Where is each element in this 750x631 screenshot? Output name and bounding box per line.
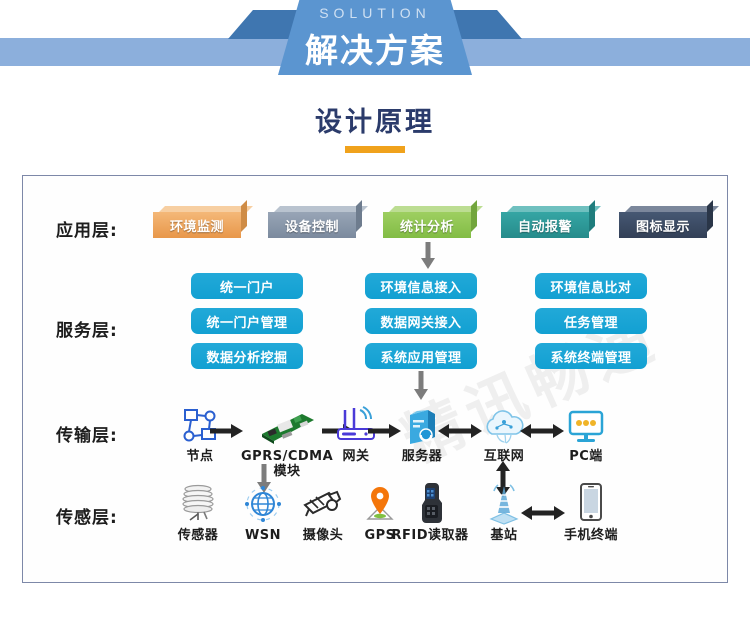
banner-kicker: SOLUTION	[228, 5, 522, 21]
node-caption: 网关	[319, 449, 393, 464]
node-caption: 节点	[163, 449, 237, 464]
title-underline	[345, 146, 405, 153]
node-caption: PC端	[549, 449, 623, 464]
box-side-face	[356, 200, 362, 232]
box-side-face	[589, 200, 595, 232]
service-pill-system-app-mgmt[interactable]: 系统应用管理	[365, 343, 477, 369]
box-side-face	[471, 200, 477, 232]
app-box-label: 自动报警	[501, 212, 589, 238]
service-pill-data-gateway-access[interactable]: 数据网关接入	[365, 308, 477, 334]
service-pill-env-info-compare[interactable]: 环境信息比对	[535, 273, 647, 299]
banner-ribbon: SOLUTION 解决方案	[228, 0, 522, 75]
mobile-phone-icon	[547, 483, 635, 525]
service-pill-terminal-management[interactable]: 系统终端管理	[535, 343, 647, 369]
app-box-label: 图标显示	[619, 212, 707, 238]
node-caption: 服务器	[385, 449, 459, 464]
app-box-auto-alarm[interactable]: 自动报警	[501, 212, 589, 238]
node-caption: 手机终端	[547, 528, 635, 543]
sensor-node-mobile-terminal[interactable]: 手机终端	[547, 483, 635, 543]
arrow-node-to-module	[210, 424, 244, 438]
app-box-environment-monitoring[interactable]: 环境监测	[153, 212, 241, 238]
box-side-face	[707, 200, 713, 232]
arrow-app-to-service	[421, 242, 435, 270]
banner-title: 解决方案	[228, 24, 522, 72]
weather-sensor-icon	[161, 483, 235, 525]
arrow-service-to-transport	[414, 371, 428, 401]
architecture-diagram: 精讯畅通 应用层: 服务层: 传输层: 传感层: 环境监测 设备控制 统计分析 …	[22, 175, 728, 583]
app-box-device-control[interactable]: 设备控制	[268, 212, 356, 238]
service-pill-env-info-access[interactable]: 环境信息接入	[365, 273, 477, 299]
row-label-sensor: 传感层:	[56, 503, 118, 528]
service-pill-data-mining[interactable]: 数据分析挖掘	[191, 343, 303, 369]
app-box-statistical-analysis[interactable]: 统计分析	[383, 212, 471, 238]
sensor-node-sensor[interactable]: 传感器	[161, 483, 235, 543]
page-banner: SOLUTION 解决方案	[0, 0, 750, 75]
node-caption: 传感器	[161, 528, 235, 543]
service-pill-task-management[interactable]: 任务管理	[535, 308, 647, 334]
app-box-label: 设备控制	[268, 212, 356, 238]
monitor-icon	[549, 404, 623, 446]
box-side-face	[241, 200, 247, 232]
app-box-label: 统计分析	[383, 212, 471, 238]
node-caption: 基站	[467, 528, 541, 543]
app-box-label: 环境监测	[153, 212, 241, 238]
row-label-transport: 传输层:	[56, 421, 118, 446]
row-label-application: 应用层:	[56, 216, 118, 241]
app-box-icon-display[interactable]: 图标显示	[619, 212, 707, 238]
service-pill-unified-portal[interactable]: 统一门户	[191, 273, 303, 299]
page-title: 设计原理	[0, 100, 750, 139]
transport-node-pc[interactable]: PC端	[549, 404, 623, 464]
node-caption-line2: 模块	[241, 464, 333, 479]
row-label-service: 服务层:	[56, 316, 118, 341]
service-pill-portal-management[interactable]: 统一门户管理	[191, 308, 303, 334]
